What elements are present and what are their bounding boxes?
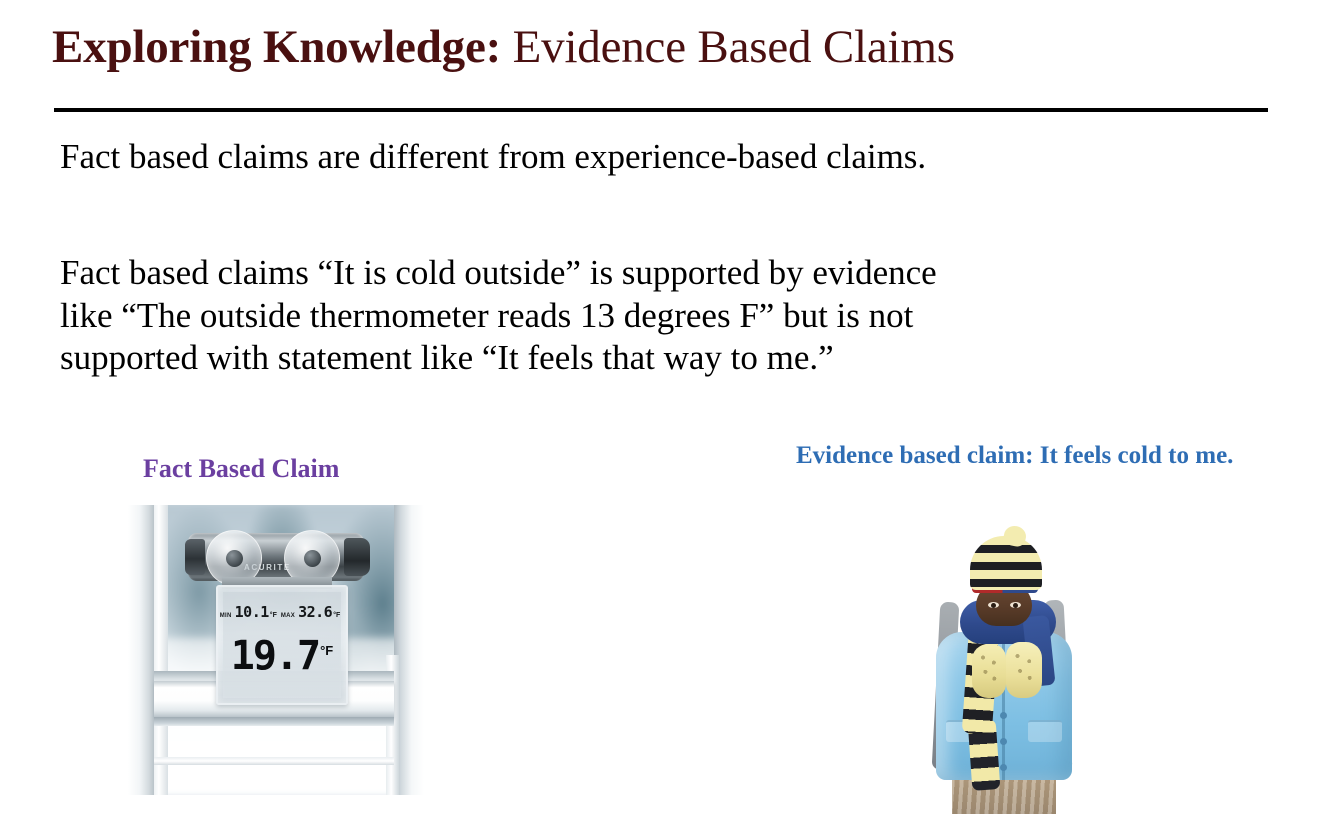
thermometer-end-cap-right (344, 538, 370, 576)
jacket-button-3 (1000, 764, 1007, 771)
person-eye-left (988, 602, 999, 608)
evidence-caption-line-1: Evidence based claim: It feels (796, 442, 1111, 469)
lcd-max-unit: °F (333, 612, 340, 619)
bundled-person-image (900, 524, 1105, 814)
body-paragraph-2: Fact based claims “It is cold outside” i… (60, 252, 1210, 380)
jacket-pocket-right (1028, 720, 1062, 742)
lcd-current-value: 19.7 (231, 633, 319, 679)
title-strong-part: Exploring Knowledge: (52, 21, 501, 73)
striped-winter-hat (970, 536, 1042, 590)
evidence-caption-line-2: cold to me. (1117, 442, 1233, 469)
lcd-max-value: 32.6 (298, 603, 332, 621)
body-paragraph-2-line-3: supported with statement like “It feels … (60, 337, 1210, 380)
lcd-max-label: MAX (281, 613, 295, 619)
lcd-min-value: 10.1 (235, 603, 269, 621)
thermometer-end-cap-left (185, 539, 205, 575)
evidence-based-claim-caption: Evidence based claim: It feels cold to m… (796, 440, 1236, 472)
lcd-min-unit: °F (270, 612, 277, 619)
lcd-min-max-row: MIN 10.1 °F MAX 32.6 °F (222, 603, 342, 621)
mitten-right (1006, 642, 1042, 698)
window-thermometer-image: ACURITE MIN 10.1 °F MAX 32.6 °F 19.7°F (128, 505, 424, 795)
title-divider (54, 108, 1268, 112)
thermometer-device: ACURITE MIN 10.1 °F MAX 32.6 °F 19.7°F (188, 533, 364, 703)
body-paragraph-1: Fact based claims are different from exp… (60, 136, 1260, 179)
slide: Exploring Knowledge: Evidence Based Clai… (0, 0, 1320, 834)
title-normal-part: Evidence Based Claims (501, 21, 955, 73)
window-frame-left (128, 505, 154, 795)
page-title: Exploring Knowledge: Evidence Based Clai… (52, 22, 1272, 74)
window-sash-rail-lower (154, 717, 394, 726)
body-paragraph-2-line-1: Fact based claims “It is cold outside” i… (60, 252, 1210, 295)
window-frame-bottom (154, 757, 394, 765)
window-mullion-vertical-left (154, 505, 168, 795)
lcd-min-label: MIN (220, 613, 232, 619)
fact-based-claim-caption: Fact Based Claim (143, 454, 339, 484)
jacket-button-2 (1000, 738, 1007, 745)
jacket-button-1 (1000, 712, 1007, 719)
mitten-left (972, 644, 1006, 698)
person-eye-right (1010, 602, 1021, 608)
lcd-current-temperature: 19.7°F (218, 633, 346, 679)
thermometer-lcd-panel: MIN 10.1 °F MAX 32.6 °F 19.7°F (216, 585, 348, 705)
slide-title-text: Exploring Knowledge: Evidence Based Clai… (52, 22, 1272, 74)
body-paragraph-2-line-2: like “The outside thermometer reads 13 d… (60, 295, 1210, 338)
lcd-current-unit: °F (320, 643, 333, 658)
